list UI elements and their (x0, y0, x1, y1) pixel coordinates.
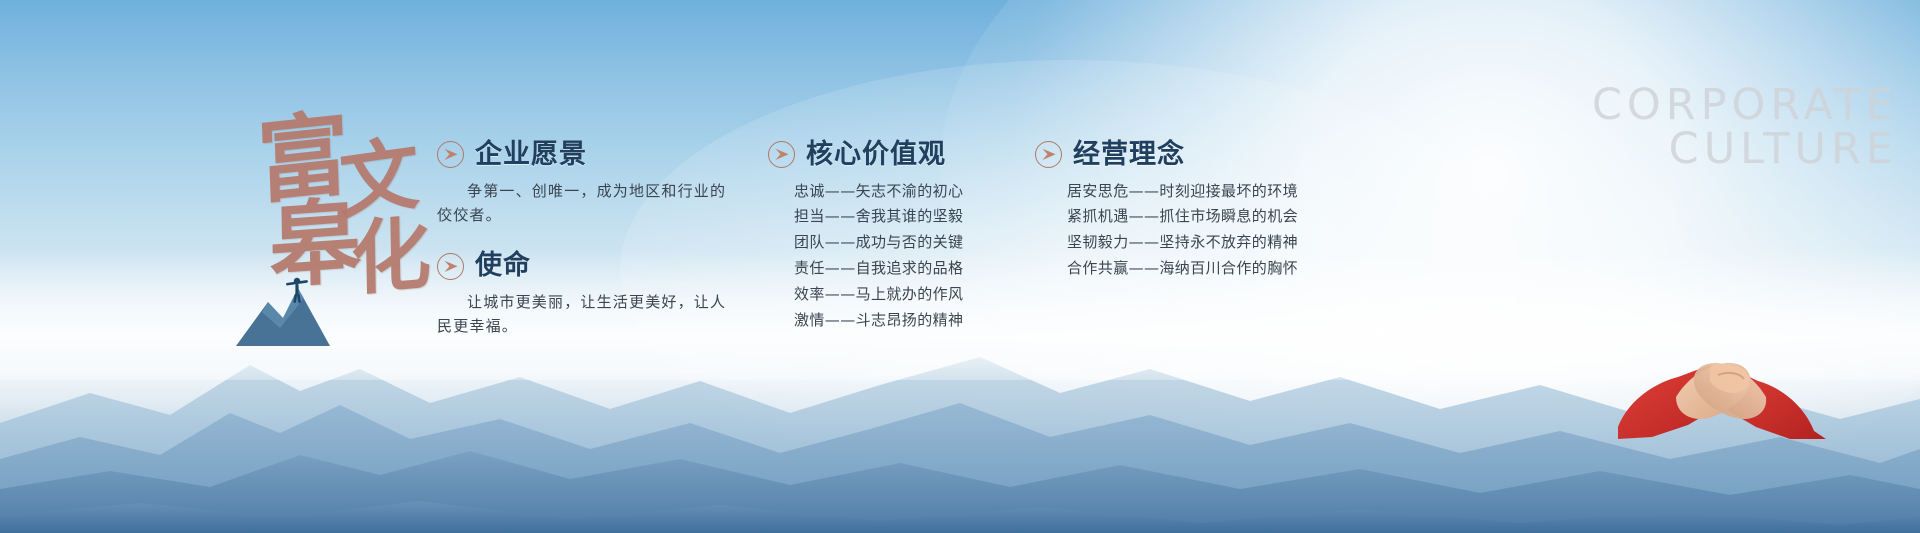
watermark-line-1: CORPORATE (1592, 84, 1898, 128)
section-core-values-header: 核心价值观 (768, 140, 1010, 170)
section-mission: 使命 让城市更美丽，让生活更美好，让人民更幸福。 (437, 251, 727, 338)
section-core-values-title: 核心价值观 (806, 140, 946, 170)
watermark-line-2: CULTURE (1592, 128, 1898, 172)
list-item: 担当——舍我其谁的坚毅 (794, 204, 1010, 230)
list-item: 责任——自我追求的品格 (794, 256, 1010, 282)
list-item: 紧抓机遇——抓住市场瞬息的机会 (1067, 204, 1335, 230)
section-mission-header: 使命 (437, 251, 727, 281)
calligraphy-char-fu: 富 (256, 107, 351, 209)
arrow-right-circle-icon (437, 141, 464, 168)
section-mission-body: 让城市更美丽，让生活更美好，让人民更幸福。 (437, 290, 727, 339)
section-business-philosophy: 经营理念 居安思危——时刻迎接最坏的环境 紧抓机遇——抓住市场瞬息的机会 坚韧毅… (1035, 140, 1335, 282)
section-vision-body: 争第一、创唯一，成为地区和行业的佼佼者。 (437, 179, 727, 228)
section-vision-header: 企业愿景 (437, 140, 727, 170)
calligraphy-fugao-wenhua: 富 皋 文 化 (243, 112, 433, 312)
section-business-philosophy-header: 经营理念 (1035, 140, 1335, 170)
arrow-right-circle-icon (1035, 141, 1062, 168)
section-core-values: 核心价值观 忠诚——矢志不渝的初心 担当——舍我其谁的坚毅 团队——成功与否的关… (760, 140, 1010, 333)
section-vision: 企业愿景 争第一、创唯一，成为地区和行业的佼佼者。 (437, 140, 727, 227)
list-item: 激情——斗志昂扬的精神 (794, 308, 1010, 334)
list-item: 合作共赢——海纳百川合作的胸怀 (1067, 256, 1335, 282)
list-item: 坚韧毅力——坚持永不放弃的精神 (1067, 230, 1335, 256)
arrow-right-circle-icon (768, 141, 795, 168)
list-item: 忠诚——矢志不渝的初心 (794, 179, 1010, 205)
clasped-hands-photo (1618, 331, 1828, 441)
calligraphy-char-hua: 化 (350, 212, 431, 299)
list-item: 效率——马上就办的作风 (794, 282, 1010, 308)
column-vision-mission: 企业愿景 争第一、创唯一，成为地区和行业的佼佼者。 使命 让城市更美丽，让生活更… (437, 140, 727, 354)
calligraphy-char-gao: 皋 (268, 195, 361, 294)
list-item: 团队——成功与否的关键 (794, 230, 1010, 256)
watermark-corporate-culture: CORPORATE CULTURE (1592, 84, 1898, 172)
business-philosophy-list: 居安思危——时刻迎接最坏的环境 紧抓机遇——抓住市场瞬息的机会 坚韧毅力——坚持… (1067, 179, 1335, 282)
calligraphy-char-wen: 文 (337, 132, 420, 223)
mountain-summit-statue-icon (228, 268, 338, 346)
section-business-philosophy-title: 经营理念 (1073, 140, 1185, 170)
arrow-right-circle-icon (437, 253, 464, 280)
list-item: 居安思危——时刻迎接最坏的环境 (1067, 179, 1335, 205)
section-mission-title: 使命 (475, 251, 531, 281)
corporate-culture-banner: 富 皋 文 化 CORPORATE CULTURE 企业愿景 争第一、创唯一，成… (0, 0, 1920, 533)
core-values-list: 忠诚——矢志不渝的初心 担当——舍我其谁的坚毅 团队——成功与否的关键 责任——… (794, 179, 1010, 334)
column-core-values: 核心价值观 忠诚——矢志不渝的初心 担当——舍我其谁的坚毅 团队——成功与否的关… (760, 140, 1010, 349)
column-business-philosophy: 经营理念 居安思危——时刻迎接最坏的环境 紧抓机遇——抓住市场瞬息的机会 坚韧毅… (1035, 140, 1335, 298)
section-vision-title: 企业愿景 (475, 140, 587, 170)
